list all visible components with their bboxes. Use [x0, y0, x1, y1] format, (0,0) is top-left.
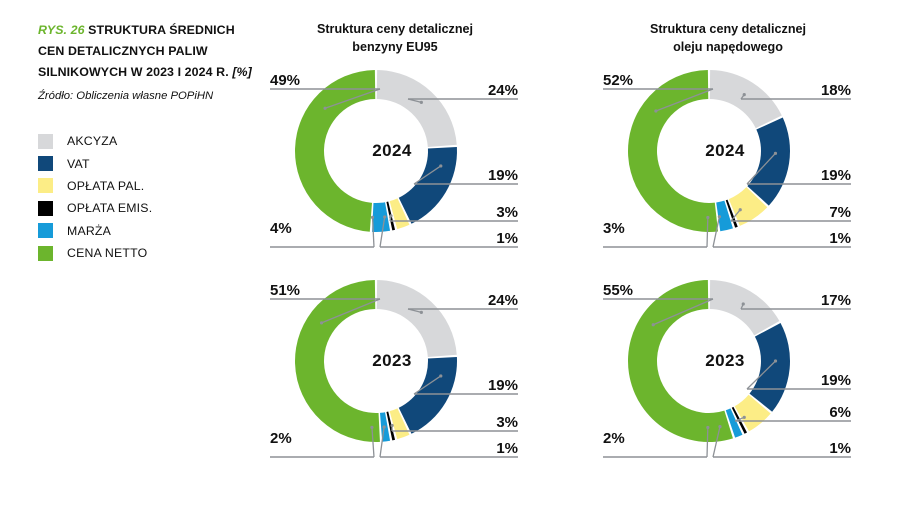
- donut-value-label-vat: 19%: [426, 167, 518, 184]
- donut-value-label-oplata-emis: 1%: [426, 440, 518, 457]
- chart-title-gasoline-line2: benzyny EU95: [352, 40, 437, 54]
- donut-value-label-cena-netto: 55%: [603, 282, 633, 299]
- donut-value-label-cena-netto: 52%: [603, 72, 633, 89]
- legend-label: AKCYZA: [67, 134, 117, 148]
- donut-center-year-diesel-2024: 2024: [595, 141, 855, 161]
- chart-title-diesel: Struktura ceny detalicznej oleju napędow…: [598, 20, 858, 56]
- donut-value-label-oplata-pal: 3%: [426, 204, 518, 221]
- donut-value-label-cena-netto: 49%: [270, 72, 300, 89]
- donut-slice-marza: [372, 202, 390, 232]
- chart-canvas: RYS. 26 STRUKTURA ŚREDNICH CEN DETALICZN…: [0, 0, 920, 505]
- donut-value-label-marza: 2%: [603, 430, 625, 447]
- legend-item: OPŁATA PAL.: [38, 175, 152, 197]
- donut-chart-gasoline-2023: 202324%19%3%1%2%51%: [262, 268, 522, 478]
- figure-number: RYS. 26: [38, 23, 85, 37]
- legend-swatch: [38, 178, 53, 193]
- donut-slice-vat: [747, 118, 790, 206]
- legend-label: CENA NETTO: [67, 246, 147, 260]
- donut-value-label-oplata-pal: 6%: [759, 404, 851, 421]
- legend-swatch: [38, 156, 53, 171]
- donut-value-label-akcyza: 18%: [759, 82, 851, 99]
- figure-title-line1: STRUKTURA ŚREDNICH: [88, 23, 235, 37]
- legend-swatch: [38, 246, 53, 261]
- donut-value-label-marza: 2%: [270, 430, 292, 447]
- legend-label: MARŻA: [67, 224, 111, 238]
- donut-value-label-oplata-emis: 1%: [426, 230, 518, 247]
- donut-chart-diesel-2023: 202317%19%6%1%2%55%: [595, 268, 855, 478]
- chart-title-diesel-line1: Struktura ceny detalicznej: [650, 22, 806, 36]
- chart-title-gasoline: Struktura ceny detalicznej benzyny EU95: [265, 20, 525, 56]
- chart-legend: AKCYZAVATOPŁATA PAL.OPŁATA EMIS.MARŻACEN…: [38, 130, 152, 264]
- figure-unit: [%]: [232, 65, 252, 79]
- legend-label: OPŁATA EMIS.: [67, 201, 152, 215]
- donut-center-year-gasoline-2024: 2024: [262, 141, 522, 161]
- figure-caption: RYS. 26 STRUKTURA ŚREDNICH CEN DETALICZN…: [38, 20, 253, 104]
- donut-value-label-akcyza: 24%: [426, 82, 518, 99]
- donut-chart-gasoline-2024: 202424%19%3%1%4%49%: [262, 58, 522, 268]
- chart-title-diesel-line2: oleju napędowego: [673, 40, 783, 54]
- donut-value-label-oplata-pal: 3%: [426, 414, 518, 431]
- legend-item: VAT: [38, 152, 152, 174]
- legend-swatch: [38, 223, 53, 238]
- donut-value-label-marza: 4%: [270, 220, 292, 237]
- legend-label: VAT: [67, 157, 90, 171]
- donut-value-label-vat: 19%: [426, 377, 518, 394]
- donut-value-label-cena-netto: 51%: [270, 282, 300, 299]
- donut-chart-diesel-2024: 202418%19%7%1%3%52%: [595, 58, 855, 268]
- legend-item: OPŁATA EMIS.: [38, 197, 152, 219]
- donut-value-label-oplata-pal: 7%: [759, 204, 851, 221]
- chart-title-gasoline-line1: Struktura ceny detalicznej: [317, 22, 473, 36]
- donut-value-label-vat: 19%: [759, 167, 851, 184]
- legend-swatch: [38, 201, 53, 216]
- donut-value-label-akcyza: 24%: [426, 292, 518, 309]
- figure-title-line2: CEN DETALICZNYCH PALIW: [38, 44, 208, 58]
- donut-center-year-diesel-2023: 2023: [595, 351, 855, 371]
- donut-value-label-oplata-emis: 1%: [759, 230, 851, 247]
- donut-value-label-vat: 19%: [759, 372, 851, 389]
- figure-source: Źródło: Obliczenia własne POPiHN: [38, 88, 253, 104]
- donut-center-year-gasoline-2023: 2023: [262, 351, 522, 371]
- legend-label: OPŁATA PAL.: [67, 179, 144, 193]
- figure-title: RYS. 26 STRUKTURA ŚREDNICH CEN DETALICZN…: [38, 20, 253, 83]
- donut-value-label-oplata-emis: 1%: [759, 440, 851, 457]
- legend-item: AKCYZA: [38, 130, 152, 152]
- donut-value-label-marza: 3%: [603, 220, 625, 237]
- donut-value-label-akcyza: 17%: [759, 292, 851, 309]
- legend-item: CENA NETTO: [38, 242, 152, 264]
- legend-swatch: [38, 134, 53, 149]
- legend-item: MARŻA: [38, 220, 152, 242]
- figure-title-line3: SILNIKOWYCH W 2023 I 2024 R.: [38, 65, 229, 79]
